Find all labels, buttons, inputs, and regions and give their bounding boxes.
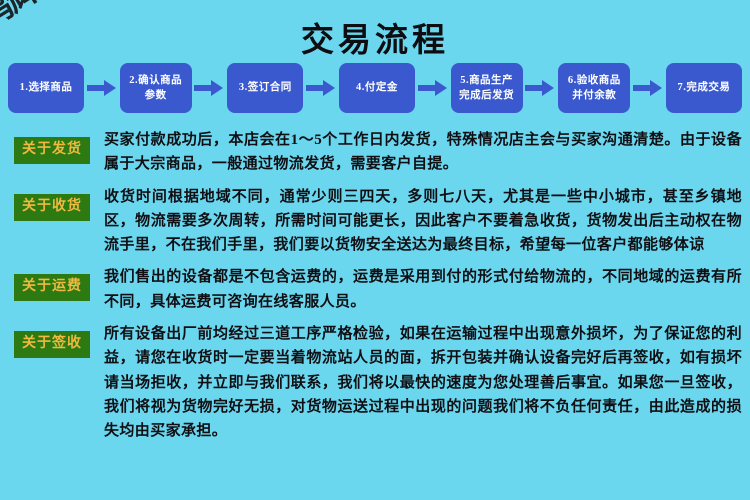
flow-arrow-icon-5: [525, 80, 555, 96]
flow-arrow-icon-1: [87, 80, 117, 96]
flow-step-3: 3.签订合同: [227, 63, 303, 113]
policy-sections: 关于发货 买家付款成功后，本店会在1～5个工作日内发货，特殊情况店主会与买家沟通…: [0, 128, 750, 452]
policy-text-shipping: 买家付款成功后，本店会在1～5个工作日内发货，特殊情况店主会与买家沟通清楚。由于…: [104, 128, 750, 177]
flow-arrow-icon-4: [418, 80, 448, 96]
flow-step-1: 1.选择商品: [8, 63, 84, 113]
badge-shipping: 关于发货: [14, 137, 90, 164]
badge-freight: 关于运费: [14, 274, 90, 301]
policy-section-signoff: 关于签收 所有设备出厂前均经过三道工序严格检验，如果在运输过程中出现意外损坏，为…: [0, 322, 750, 443]
flow-step-2: 2.确认商品参数: [120, 63, 192, 113]
flow-step-7: 7.完成交易: [666, 63, 742, 113]
flow-arrow-icon-2: [194, 80, 224, 96]
page-title: 交易流程: [0, 13, 750, 61]
flow-step-6: 6.验收商品并付余款: [558, 63, 630, 113]
badge-signoff: 关于签收: [14, 331, 90, 358]
badge-container-freight: 关于运费: [0, 265, 104, 301]
transaction-flow-diagram: 1.选择商品 2.确认商品参数 3.签订合同 4.付定金 5.商品生产完成后发货…: [8, 62, 742, 114]
badge-container-receiving: 关于收货: [0, 185, 104, 221]
flow-step-4: 4.付定金: [339, 63, 415, 113]
policy-text-freight: 我们售出的设备都是不包含运费的，运费是采用到付的形式付给物流的，不同地域的运费有…: [104, 265, 750, 314]
flow-arrow-icon-6: [633, 80, 663, 96]
flow-step-5: 5.商品生产完成后发货: [451, 63, 523, 113]
policy-section-freight: 关于运费 我们售出的设备都是不包含运费的，运费是采用到付的形式付给物流的，不同地…: [0, 265, 750, 314]
flow-arrow-icon-3: [306, 80, 336, 96]
badge-receiving: 关于收货: [14, 194, 90, 221]
badge-container-signoff: 关于签收: [0, 322, 104, 358]
policy-section-shipping: 关于发货 买家付款成功后，本店会在1～5个工作日内发货，特殊情况店主会与买家沟通…: [0, 128, 750, 177]
policy-section-receiving: 关于收货 收货时间根据地域不同，通常少则三四天，多则七八天，尤其是一些中小城市，…: [0, 185, 750, 258]
badge-container-shipping: 关于发货: [0, 128, 104, 164]
policy-text-receiving: 收货时间根据地域不同，通常少则三四天，多则七八天，尤其是一些中小城市，甚至乡镇地…: [104, 185, 750, 258]
policy-text-signoff: 所有设备出厂前均经过三道工序严格检验，如果在运输过程中出现意外损坏，为了保证您的…: [104, 322, 750, 443]
